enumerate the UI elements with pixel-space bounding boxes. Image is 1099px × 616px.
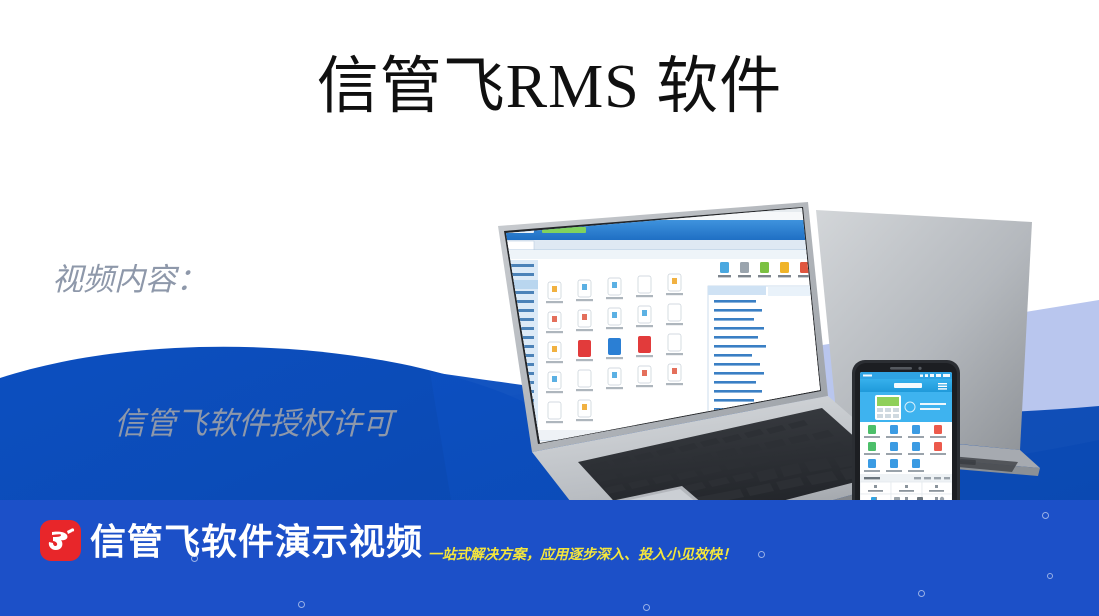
hamburger-menu-icon (938, 383, 947, 390)
device-photo-group (420, 200, 1099, 540)
decorative-dot (643, 604, 650, 611)
subtitle-block: 视频内容： 信管飞软件授权许可 (52, 160, 393, 544)
page-title: 信管飞RMS 软件 (0, 48, 1099, 126)
decorative-dot (1042, 512, 1049, 519)
decorative-dot (1047, 573, 1053, 579)
slide-canvas: 信管飞RMS 软件 视频内容： 信管飞软件授权许可 (0, 0, 1099, 616)
brand-logo-icon (40, 520, 81, 561)
banner-tagline: 一站式解决方案，应用逐步深入、投入小见效快！ (428, 545, 736, 563)
subtitle-line-1: 视频内容： (52, 256, 393, 304)
banner-brand-title: 信管飞软件演示视频 (90, 521, 423, 563)
subtitle-line-2: 信管飞软件授权许可 (52, 400, 393, 448)
decorative-dot (758, 551, 765, 558)
decorative-dot (918, 590, 925, 597)
decorative-dot (298, 601, 305, 608)
phone-screen-content (860, 372, 952, 509)
